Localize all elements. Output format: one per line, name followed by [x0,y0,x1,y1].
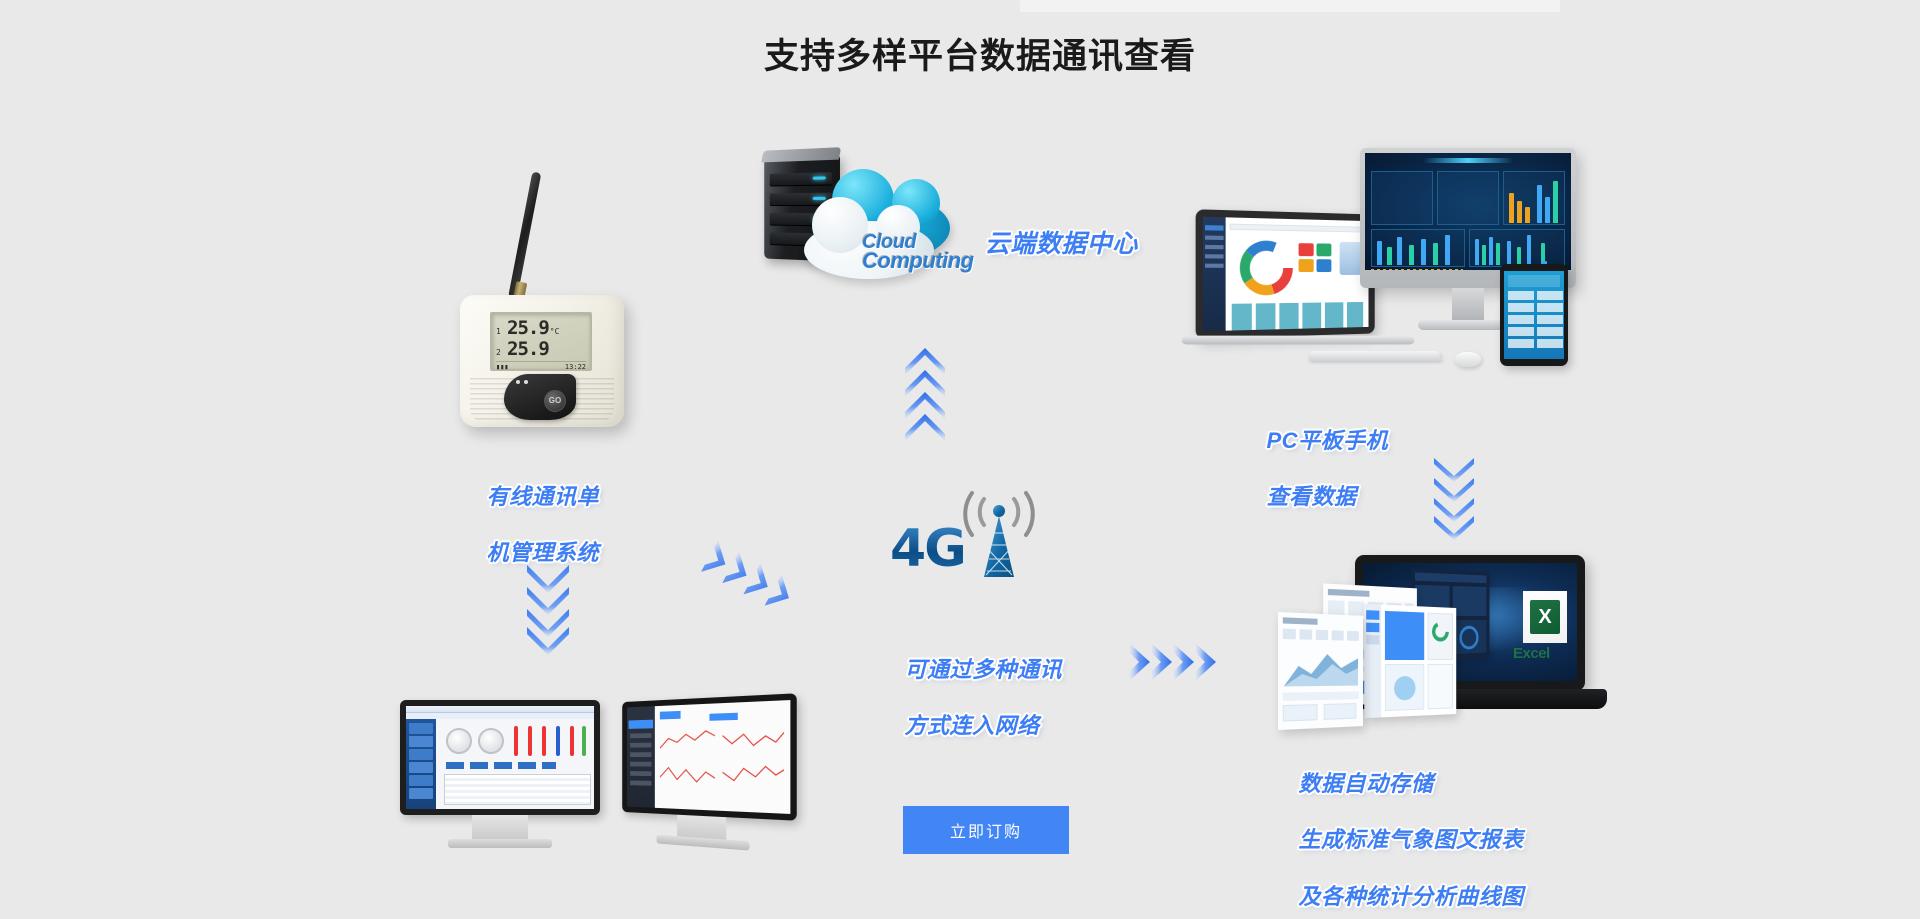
bar [1433,243,1438,265]
laptop-base [1181,336,1416,345]
tablet-cell [1508,303,1534,312]
gauge-2 [478,728,504,754]
server-top [761,147,841,162]
monitor-foot [657,835,750,851]
lcd-channel-2-row: 2 25.9 [496,338,586,359]
label-data-storage-line1: 数据自动存储 [1298,771,1433,796]
sensor-device: 1 25.9 °C 2 25.9 ▮▮▮ 13:22 GO [452,170,632,430]
tablet-header [1508,275,1560,287]
panel-list [1437,171,1499,225]
battery-icon: ▮▮▮ [496,363,509,371]
thermometer-1 [514,726,518,756]
lcd-channel-2-label: 2 [496,348,507,357]
lcd-channel-1-row: 1 25.9 °C [496,317,586,338]
donut-mini [1431,621,1450,643]
label-data-storage-line3: 及各种统计分析曲线图 [1298,884,1523,909]
sidebar-item[interactable] [1205,264,1224,268]
dashboard-toolbar [1230,224,1363,233]
thermometer-5 [570,726,574,756]
label-pc-tablet-phone: PC平板手机 查看数据 [1240,399,1388,540]
arrow-4g-to-cloud [905,348,945,440]
tablet-cell [1508,327,1534,336]
chart-software-screen [627,700,790,814]
sensor-front-panel: GO [504,374,576,420]
label-cloud-center: 云端数据中心 [955,196,1138,292]
lcd-channel-1-label: 1 [496,327,507,336]
line-chart-2 [723,724,785,754]
order-now-button[interactable]: 立即订购 [903,806,1069,854]
arrow-4g-to-storage [1128,640,1224,684]
sidebar-node-2 [409,736,433,747]
panel-chart [1428,664,1453,709]
line-chart-1 [660,726,715,754]
bar [1409,245,1414,265]
network-4g-group: 4G [890,487,1050,587]
desktop-monitor-charts [622,693,797,820]
sidebar-item[interactable] [1205,236,1224,240]
sidebar-item[interactable] [630,733,651,738]
bar [1377,241,1382,265]
kpi-tile [1299,259,1314,272]
panel-title [1283,617,1318,625]
sidebar-item[interactable] [630,780,651,785]
laptop-lid [1196,209,1375,339]
bar [1489,237,1493,265]
toolbar-buttons[interactable] [446,762,556,769]
sidebar-item[interactable] [1205,245,1224,249]
bar-cluster [1371,269,1463,270]
monitor-stand [472,815,528,841]
mountain-area-chart [1284,645,1358,686]
mini-sidebar-item[interactable] [1366,635,1379,645]
bar [1482,245,1486,265]
bar [1525,207,1530,223]
floating-screen-analytics [1278,612,1363,730]
sidebar-item[interactable] [1205,225,1224,231]
tablet-cell [1537,315,1563,324]
server-led [813,197,826,200]
lcd-status-row: ▮▮▮ 13:22 [496,361,586,371]
bar [1507,241,1511,265]
panel-kpi [1371,171,1433,225]
app-titlebar [406,706,594,713]
monitor-foot [448,839,552,848]
thermometer-6 [582,726,586,756]
bar [1545,197,1550,223]
excel-wordmark: Excel [1513,645,1550,662]
sidebar-node-4 [409,762,433,773]
kpi-tile [1317,243,1332,256]
arrow-sensor-to-monitors [527,565,569,655]
label-wired-system-line1: 有线通讯单 [486,484,599,509]
sidebar-item[interactable] [630,743,651,748]
tablet-cell [1537,303,1563,312]
thermometer-4 [556,726,560,756]
excel-logo-tile: X [1523,591,1567,643]
arrow-monitors-to-4g [690,540,800,630]
arrow-cloud-to-storage [1434,460,1474,540]
panel [1453,586,1487,616]
excel-letter: X [1530,600,1560,634]
bar [1387,247,1392,265]
gauge-1 [446,728,472,754]
tablet-device [1500,264,1568,366]
sidebar-node-5 [409,775,433,786]
kpi-tile [1299,243,1314,256]
icon-row [1283,629,1359,641]
sidebar-item[interactable] [1205,254,1224,258]
page-title: 支持多样平台数据通讯查看 [0,28,1920,79]
sensor-lcd-display: 1 25.9 °C 2 25.9 ▮▮▮ 13:22 [490,312,592,371]
label-data-storage-line2: 生成标准气象图文报表 [1298,827,1523,852]
desktop-monitor-software [400,700,600,815]
bar [1445,235,1450,265]
sidebar-node-1 [409,723,433,734]
thermometer-2 [528,726,532,756]
panel-header [1415,572,1486,583]
cloud-data-center-graphic: Cloud Computing [756,155,986,290]
bar [1527,235,1531,265]
tablet-cell [1537,339,1563,348]
donut-chart [1238,238,1295,297]
dashboard-sidebar [1203,217,1226,332]
keyboard[interactable] [1309,351,1441,361]
tablet-screen [1504,271,1564,359]
sidebar-item[interactable] [630,762,651,767]
bar [1496,243,1500,265]
legend-box [1324,703,1357,720]
data-table [444,774,591,805]
panel-bars-mid-left [1371,229,1465,267]
sidebar-active-item[interactable] [629,720,654,729]
tablet-cell [1537,327,1563,336]
label-network-access-line1: 可通过多种通讯 [904,657,1062,682]
imac-stand [1452,288,1484,322]
chart-tab-active[interactable] [660,711,681,720]
imac-bi-dashboard-screen [1365,153,1571,270]
bar [1421,239,1426,265]
tablet-cell [1508,291,1534,300]
antenna-icon [508,171,541,298]
label-cloud-center-line1: 云端数据中心 [985,230,1138,258]
line-chart-4 [723,760,785,790]
monitor-bezel [622,693,797,820]
thermometer-3 [542,726,546,756]
mini-sidebar [1364,604,1381,718]
kpi-row [1232,302,1363,331]
bar [1517,201,1522,223]
illustration-block [1340,242,1362,275]
label-network-access-line2: 方式连入网络 [904,713,1039,738]
bar [1397,237,1402,265]
lcd-time: 13:22 [565,363,586,371]
cell-tower-icon [948,487,1050,583]
floating-screen-blue-dashboard [1364,604,1456,718]
label-pc-tablet-phone-line1: PC平板手机 [1266,428,1388,453]
label-data-storage: 数据自动存储 生成标准气象图文报表 及各种统计分析曲线图 [1272,742,1523,919]
lcd-channel-1-value: 25.9 [507,317,549,339]
top-band [1020,0,1560,12]
bar [1537,185,1542,223]
bar [1475,239,1479,265]
monitor-bezel [400,700,600,815]
report-title [1328,589,1370,597]
tablet-cell [1508,315,1534,324]
laptop-dashboard-screen [1203,217,1369,332]
go-button[interactable]: GO [544,390,566,412]
sidebar-item[interactable] [630,752,651,757]
legend-box [1283,704,1318,721]
row [1283,691,1359,701]
label-wired-system-line2: 机管理系统 [486,540,599,565]
sidebar-item[interactable] [630,771,651,776]
bar [1517,247,1521,265]
sidebar-node-3 [409,749,433,760]
infographic-canvas: 支持多样平台数据通讯查看 1 25.9 °C 2 25.9 ▮▮▮ 13:22 [0,0,1920,919]
led-indicator-2 [524,380,528,384]
dashboard-header [1423,158,1513,163]
server-led [813,176,826,179]
mouse[interactable] [1455,352,1481,367]
tablet-cell [1508,339,1534,348]
sidebar-node-6 [409,788,433,799]
label-pc-tablet-phone-line2: 查看数据 [1266,484,1356,509]
lcd-channel-2-value: 25.9 [507,338,549,360]
bar [1509,193,1514,223]
lcd-channel-1-unit: °C [550,327,560,336]
monitoring-software-screen [406,706,594,809]
bar [1553,181,1558,223]
line-chart-3 [660,760,715,788]
label-network-access: 可通过多种通讯 方式连入网络 [878,628,1062,769]
kpi-tile [1317,259,1332,272]
led-indicator-1 [516,380,520,384]
chart-badge [709,713,737,721]
tablet-cell [1537,291,1563,300]
mini-sidebar-item[interactable] [1366,623,1379,633]
panel-blue [1385,611,1424,660]
mini-sidebar-item[interactable] [1366,610,1379,620]
server-bay [770,172,832,186]
